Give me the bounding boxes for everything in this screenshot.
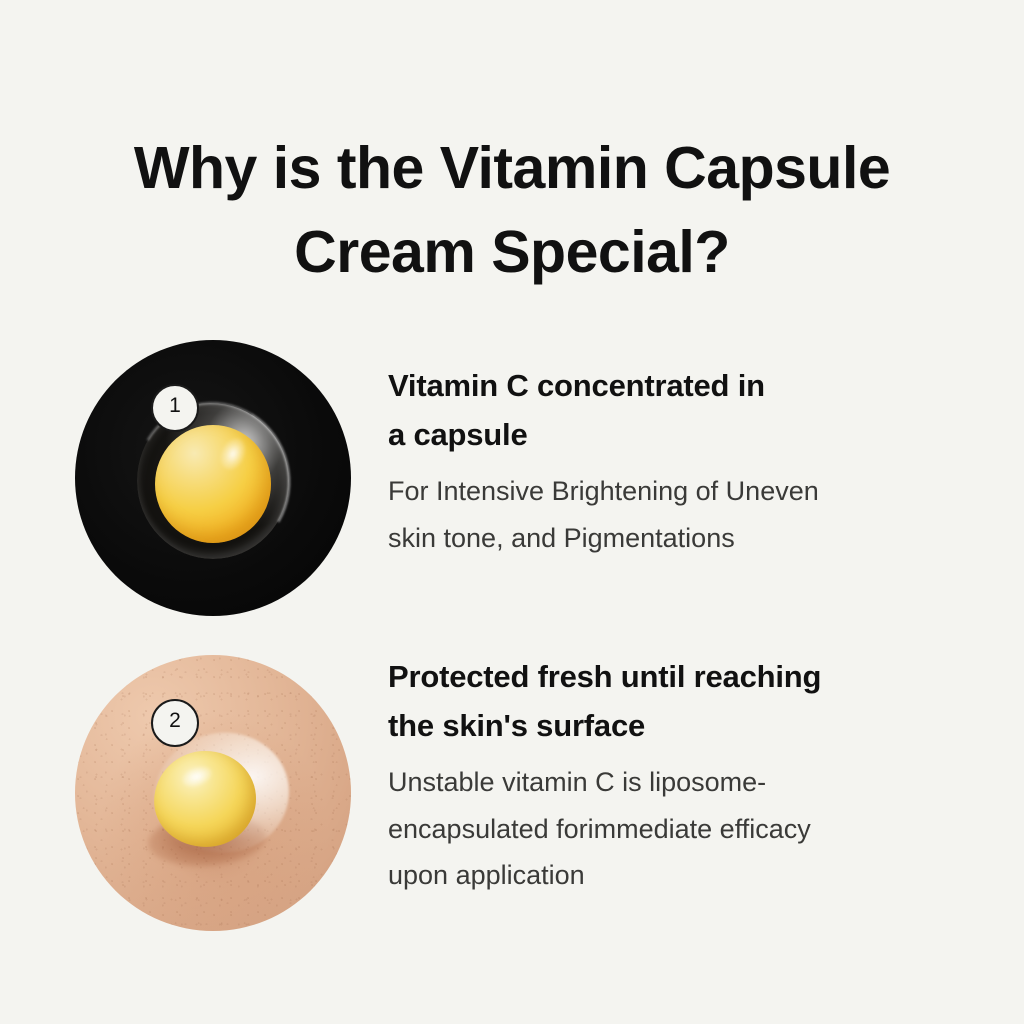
feature-2-title-line-2: the skin's surface bbox=[388, 702, 978, 751]
feature-1-description: For Intensive Brightening of Uneven skin… bbox=[388, 468, 978, 561]
feature-2-desc-line-1: Unstable vitamin C is liposome- bbox=[388, 759, 978, 805]
page-title-line-2: Cream Special? bbox=[0, 210, 1024, 295]
feature-2-desc-line-3: upon application bbox=[388, 852, 978, 898]
capsule-specular-highlight bbox=[216, 435, 249, 473]
capsule-specular-highlight bbox=[179, 762, 213, 790]
feature-2-desc-line-2: encapsulated forimmediate efficacy bbox=[388, 806, 978, 852]
feature-1-media: 1 bbox=[75, 340, 351, 616]
feature-block-1: 1 Vitamin C concentrated in a capsule Fo… bbox=[0, 332, 1024, 632]
page-title-line-1: Why is the Vitamin Capsule bbox=[0, 126, 1024, 211]
capsule-core bbox=[155, 425, 271, 543]
feature-2-title: Protected fresh until reaching the skin'… bbox=[388, 653, 978, 750]
feature-1-title-line-2: a capsule bbox=[388, 411, 978, 460]
feature-1-desc-line-1: For Intensive Brightening of Uneven bbox=[388, 468, 978, 514]
feature-2-description: Unstable vitamin C is liposome- encapsul… bbox=[388, 759, 978, 898]
step-number-badge-2: 2 bbox=[151, 699, 199, 747]
capsule-bursting-on-skin-photo bbox=[75, 655, 351, 931]
step-number-badge-1: 1 bbox=[151, 384, 199, 432]
feature-2-copy: Protected fresh until reaching the skin'… bbox=[388, 653, 978, 899]
feature-1-desc-line-2: skin tone, and Pigmentations bbox=[388, 515, 978, 561]
vitamin-capsule-on-black-photo bbox=[75, 340, 351, 616]
feature-1-copy: Vitamin C concentrated in a capsule For … bbox=[388, 362, 978, 561]
feature-1-title: Vitamin C concentrated in a capsule bbox=[388, 362, 978, 459]
feature-1-title-line-1: Vitamin C concentrated in bbox=[388, 362, 978, 411]
feature-2-title-line-1: Protected fresh until reaching bbox=[388, 653, 978, 702]
feature-2-media: 2 bbox=[75, 655, 351, 931]
page-title: Why is the Vitamin Capsule Cream Special… bbox=[0, 126, 1024, 296]
feature-block-2: 2 Protected fresh until reaching the ski… bbox=[0, 647, 1024, 947]
